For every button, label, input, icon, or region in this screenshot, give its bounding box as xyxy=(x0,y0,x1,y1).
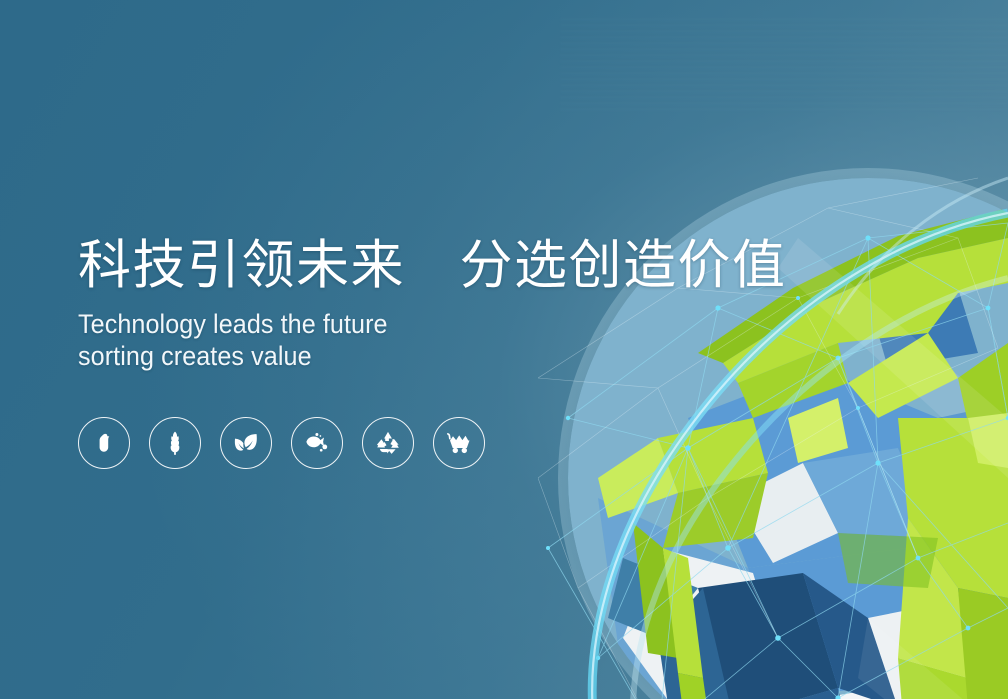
recycling-icon[interactable] xyxy=(362,417,414,469)
subtitle-line-1: Technology leads the future xyxy=(78,309,729,341)
hero-banner: 科技引领未来 分选创造价值 Technology leads the futur… xyxy=(0,0,1008,699)
fish-icon[interactable] xyxy=(291,417,343,469)
page-title: 科技引领未来 分选创造价值 xyxy=(78,236,778,295)
banner-copy: 科技引领未来 分选创造价值 Technology leads the futur… xyxy=(78,236,778,373)
industry-icon-row xyxy=(78,417,485,469)
low-poly-globe-graphic xyxy=(538,118,1008,699)
wheat-ear-icon[interactable] xyxy=(149,417,201,469)
background-streak-band xyxy=(560,18,1008,114)
banner-subtitle: Technology leads the future sorting crea… xyxy=(78,309,729,373)
tea-leaf-icon[interactable] xyxy=(220,417,272,469)
mine-cart-icon[interactable] xyxy=(433,417,485,469)
rice-seed-icon[interactable] xyxy=(78,417,130,469)
subtitle-line-2: sorting creates value xyxy=(78,341,729,373)
